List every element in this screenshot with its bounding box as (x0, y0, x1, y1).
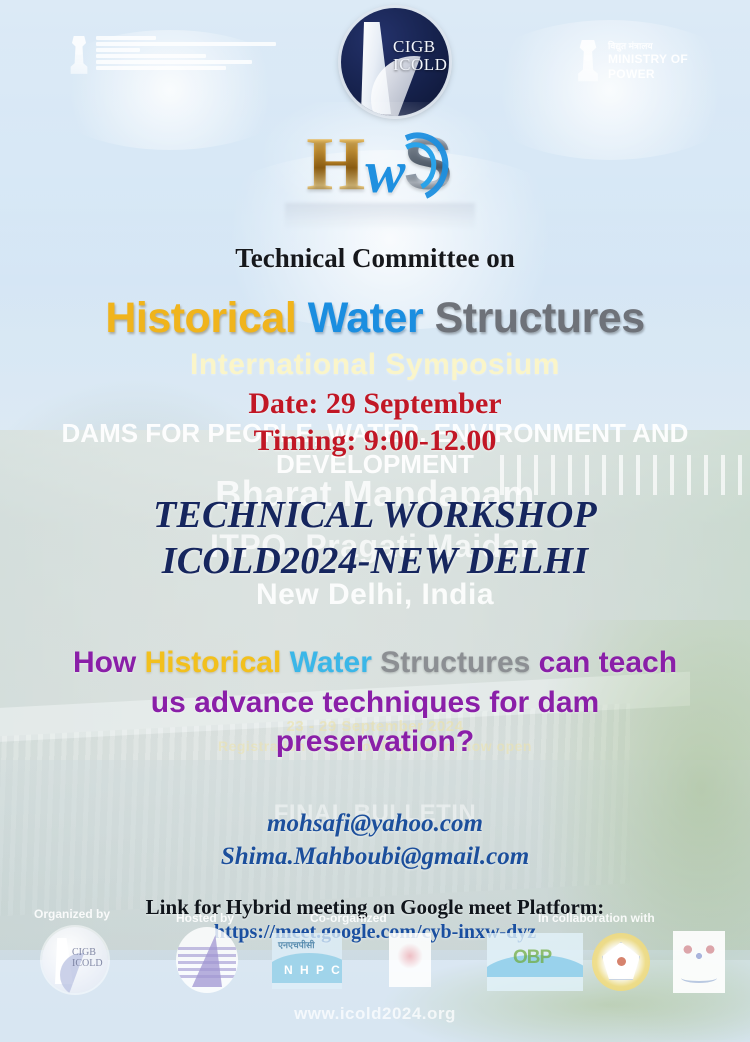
event-time: Timing: 9:00-12.00 (0, 423, 750, 460)
title-word-historical: Historical (105, 294, 296, 342)
poster-root: International Symposium DAMS FOR PEOPLE,… (0, 0, 750, 1042)
question-word-historical: Historical (145, 646, 282, 679)
partner-mark-icon (397, 943, 423, 969)
title-word-water: Water (308, 294, 423, 342)
question-word-water: Water (290, 646, 372, 679)
footer-logo-cigb-icold: CIGB ICOLD (42, 927, 108, 993)
contact-email-1[interactable]: mohsafi@yahoo.com (0, 808, 750, 841)
caption-hosted-by: Hosted by (176, 911, 234, 925)
committee-line: Technical Committee on (0, 243, 750, 274)
caption-organized-by: Organized by (34, 907, 110, 921)
footer-logo-nhpc: एनएचपीसी N H P C (272, 933, 342, 989)
question-line-3: preservation? (0, 722, 750, 762)
workshop-question: How Historical Water Structures can teac… (0, 643, 750, 762)
question-word-how: How (73, 646, 136, 679)
wave-line-icon (681, 973, 717, 983)
nhpc-hindi-text: एनएचपीसी (278, 938, 315, 951)
footer-logo-emblem-circle (592, 933, 650, 991)
title-word-structures: Structures (435, 294, 645, 342)
event-datetime: Date: 29 September Timing: 9:00-12.00 (0, 386, 750, 459)
caption-in-collaboration-with: In collaboration with (538, 911, 655, 925)
partner-band: Organized by Hosted by Co-organized In c… (0, 895, 750, 1010)
footer-logo-obp: OBP (487, 933, 583, 991)
contact-emails: mohsafi@yahoo.com Shima.Mahboubi@gmail.c… (0, 808, 750, 873)
footer-icold-line1: CIGB (72, 947, 103, 958)
workshop-heading: TECHNICAL WORKSHOP ICOLD2024-NEW DELHI (0, 492, 750, 585)
obp-text: OBP (513, 947, 551, 969)
caption-co-organized: Co-organized (310, 911, 387, 925)
question-line-2: us advance techniques for dam (0, 683, 750, 723)
poster-content: Technical Committee on Historical Water … (0, 0, 750, 1042)
event-date: Date: 29 September (0, 386, 750, 423)
question-word-structures: Structures (380, 646, 530, 679)
network-icon (683, 943, 715, 969)
footer-icold-text: CIGB ICOLD (72, 947, 103, 969)
question-line-1: How Historical Water Structures can teac… (0, 643, 750, 683)
footer-logo-partner-white (389, 933, 431, 987)
page-title: Historical Water Structures (0, 294, 750, 343)
question-word-canteach: can teach (539, 646, 677, 679)
footer-logo-partner-card (673, 931, 725, 993)
workshop-line-2: ICOLD2024-NEW DELHI (0, 538, 750, 584)
center-dot-icon (617, 957, 626, 966)
footer-icold-line2: ICOLD (72, 958, 103, 969)
footer-logo-cbip (176, 927, 238, 993)
nhpc-text: N H P C (284, 963, 342, 977)
contact-email-2[interactable]: Shima.Mahboubi@gmail.com (0, 841, 750, 874)
workshop-line-1: TECHNICAL WORKSHOP (0, 492, 750, 538)
